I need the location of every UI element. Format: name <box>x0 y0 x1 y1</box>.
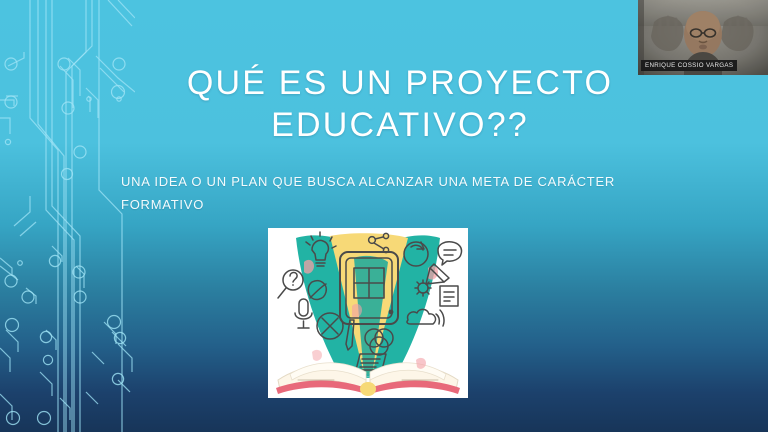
title-line-2: EDUCATIVO?? <box>120 104 680 146</box>
illustration-image <box>268 228 468 398</box>
slide-subtitle: UNA IDEA O UN PLAN QUE BUSCA ALCANZAR UN… <box>121 170 641 216</box>
webcam-participant-name: ENRIQUE COSSIO VARGAS <box>641 60 737 72</box>
subtitle-line-1: UNA IDEA O UN PLAN QUE BUSCA ALCANZAR UN… <box>121 170 641 193</box>
presentation-slide: QUÉ ES UN PROYECTO EDUCATIVO?? UNA IDEA … <box>0 0 768 432</box>
title-line-1: QUÉ ES UN PROYECTO <box>120 62 680 104</box>
subtitle-line-2: FORMATIVO <box>121 193 641 216</box>
webcam-video-tile[interactable]: ENRIQUE COSSIO VARGAS <box>638 0 768 75</box>
page-title: QUÉ ES UN PROYECTO EDUCATIVO?? <box>120 62 680 146</box>
circuit-board-decoration <box>0 0 135 432</box>
